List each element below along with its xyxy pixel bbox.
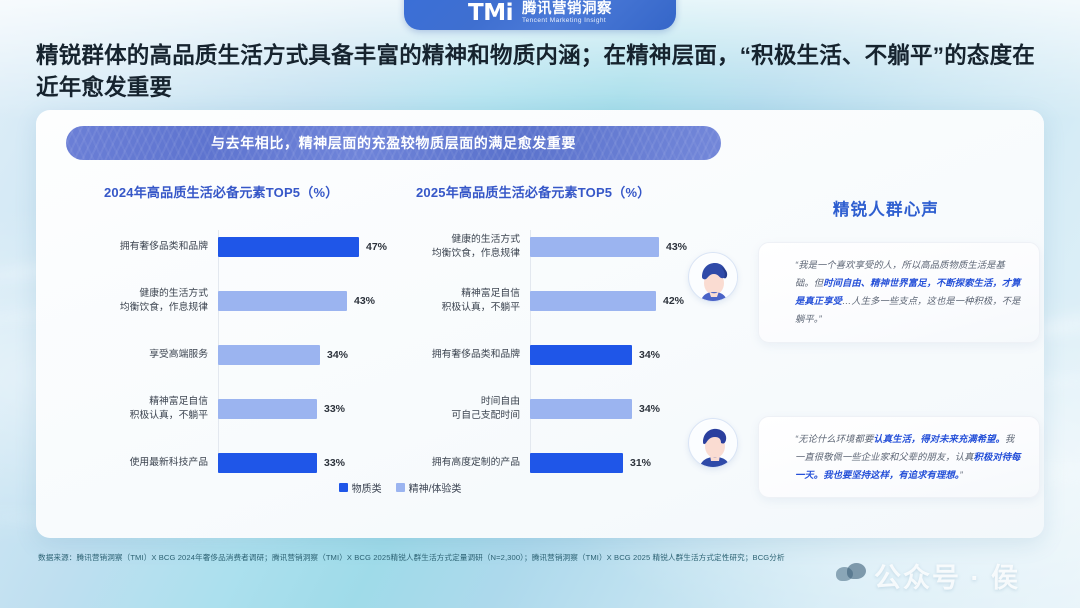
section-banner: 与去年相比，精神层面的充盈较物质层面的满足愈发重要: [66, 126, 721, 160]
legend-label: 精神/体验类: [409, 480, 462, 495]
bar-track: 31%: [530, 453, 704, 473]
male-avatar-icon: [688, 418, 738, 468]
bar-value-label: 33%: [324, 457, 345, 469]
bar: [218, 399, 317, 419]
bar-category-label: 精神富足自信 积极认真，不躺平: [96, 395, 218, 422]
bar-category-label: 精神富足自信 积极认真，不躺平: [408, 287, 530, 314]
legend-label: 物质类: [352, 480, 382, 495]
bar-row: 享受高端服务34%: [96, 342, 392, 368]
bar-row: 精神富足自信 积极认真，不躺平33%: [96, 396, 392, 422]
tmi-wordmark: TMi: [468, 2, 513, 25]
chart-title-2025: 2025年高品质生活必备元素TOP5（%）: [416, 182, 650, 201]
logo-english-name: Tencent Marketing Insight: [522, 17, 612, 25]
bar-row: 健康的生活方式 均衡饮食，作息规律43%: [408, 234, 704, 260]
bar-category-label: 拥有奢侈品类和品牌: [408, 348, 530, 362]
bar: [530, 453, 623, 473]
bar-track: 42%: [530, 291, 704, 311]
page-title: 精锐群体的高品质生活方式具备丰富的精神和物质内涵；在精神层面，“积极生活、不躺平…: [36, 40, 1052, 104]
bar-track: 43%: [218, 291, 392, 311]
bar-category-label: 健康的生活方式 均衡饮食，作息规律: [96, 287, 218, 314]
quote-card: “无论什么环境都要认真生活，得对未来充满希望。我一直很敬佩一些企业家和父辈的朋友…: [758, 416, 1040, 498]
quote-span: “无论什么环境都要: [795, 434, 873, 444]
bar-track: 47%: [218, 237, 392, 257]
bar: [530, 345, 632, 365]
bar-row: 健康的生活方式 均衡饮食，作息规律43%: [96, 288, 392, 314]
bar-row: 精神富足自信 积极认真，不躺平42%: [408, 288, 704, 314]
bar-value-label: 31%: [630, 457, 651, 469]
legend-swatch-icon: [396, 483, 405, 492]
bar-category-label: 使用最新科技产品: [96, 456, 218, 470]
slide-root: TMi 腾讯营销洞察 Tencent Marketing Insight 精锐群…: [0, 0, 1080, 608]
quote-card: “我是一个喜欢享受的人，所以高品质物质生活是基础。但时间自由、精神世界富足，不断…: [758, 242, 1040, 343]
bar: [218, 453, 317, 473]
chat-bubble-icon: [836, 563, 866, 589]
bar: [530, 237, 659, 257]
bar-value-label: 43%: [666, 241, 687, 253]
content-card: 与去年相比，精神层面的充盈较物质层面的满足愈发重要 2024年高品质生活必备元素…: [36, 110, 1044, 538]
bar-track: 34%: [530, 345, 704, 365]
bar: [530, 399, 632, 419]
bar-category-label: 时间自由 可自己支配时间: [408, 395, 530, 422]
bar-category-label: 拥有奢侈品类和品牌: [96, 240, 218, 254]
bar-value-label: 47%: [366, 241, 387, 253]
legend-item[interactable]: 精神/体验类: [396, 480, 462, 495]
bar-value-label: 43%: [354, 295, 375, 307]
bar-chart-2025: 健康的生活方式 均衡饮食，作息规律43%精神富足自信 积极认真，不躺平42%拥有…: [408, 230, 704, 464]
bar-row: 使用最新科技产品33%: [96, 450, 392, 476]
section-banner-label: 与去年相比，精神层面的充盈较物质层面的满足愈发重要: [211, 133, 576, 153]
bar-category-label: 享受高端服务: [96, 348, 218, 362]
source-footnote: 数据来源：腾讯营销洞察（TMI）X BCG 2024年奢侈品消费者调研；腾讯营销…: [38, 553, 1038, 564]
bar: [218, 237, 359, 257]
bar-track: 33%: [218, 399, 392, 419]
chart-title-2024: 2024年高品质生活必备元素TOP5（%）: [104, 182, 338, 201]
bar-track: 34%: [218, 345, 392, 365]
logo-chinese-name: 腾讯营销洞察: [522, 2, 612, 17]
bar: [218, 291, 347, 311]
tmi-logo: TMi 腾讯营销洞察 Tencent Marketing Insight: [404, 0, 676, 30]
bar-row: 拥有奢侈品类和品牌34%: [408, 342, 704, 368]
bar-value-label: 42%: [663, 295, 684, 307]
bar-chart-2024: 拥有奢侈品类和品牌47%健康的生活方式 均衡饮食，作息规律43%享受高端服务34…: [96, 230, 392, 464]
bar: [218, 345, 320, 365]
bar-value-label: 34%: [639, 349, 660, 361]
bar-category-label: 健康的生活方式 均衡饮食，作息规律: [408, 233, 530, 260]
bar-row: 拥有奢侈品类和品牌47%: [96, 234, 392, 260]
quote-text: “我是一个喜欢享受的人，所以高品质物质生活是基础。但时间自由、精神世界富足，不断…: [795, 256, 1023, 329]
bar-value-label: 34%: [639, 403, 660, 415]
quote-text: “无论什么环境都要认真生活，得对未来充满希望。我一直很敬佩一些企业家和父辈的朋友…: [795, 430, 1023, 484]
bar-track: 34%: [530, 399, 704, 419]
bar: [530, 291, 656, 311]
bar-row: 时间自由 可自己支配时间34%: [408, 396, 704, 422]
legend-item[interactable]: 物质类: [339, 480, 382, 495]
bar-track: 43%: [530, 237, 704, 257]
voices-title: 精锐人群心声: [736, 196, 1036, 220]
bar-row: 拥有高度定制的产品31%: [408, 450, 704, 476]
quote-span: ”: [960, 470, 963, 480]
bar-track: 33%: [218, 453, 392, 473]
legend-swatch-icon: [339, 483, 348, 492]
chart-legend: 物质类精神/体验类: [96, 480, 704, 495]
bar-category-label: 拥有高度定制的产品: [408, 456, 530, 470]
quote-highlight: 认真生活，得对未来充满希望。: [873, 434, 1005, 444]
bar-value-label: 34%: [327, 349, 348, 361]
female-avatar-icon: [688, 252, 738, 302]
bar-value-label: 33%: [324, 403, 345, 415]
